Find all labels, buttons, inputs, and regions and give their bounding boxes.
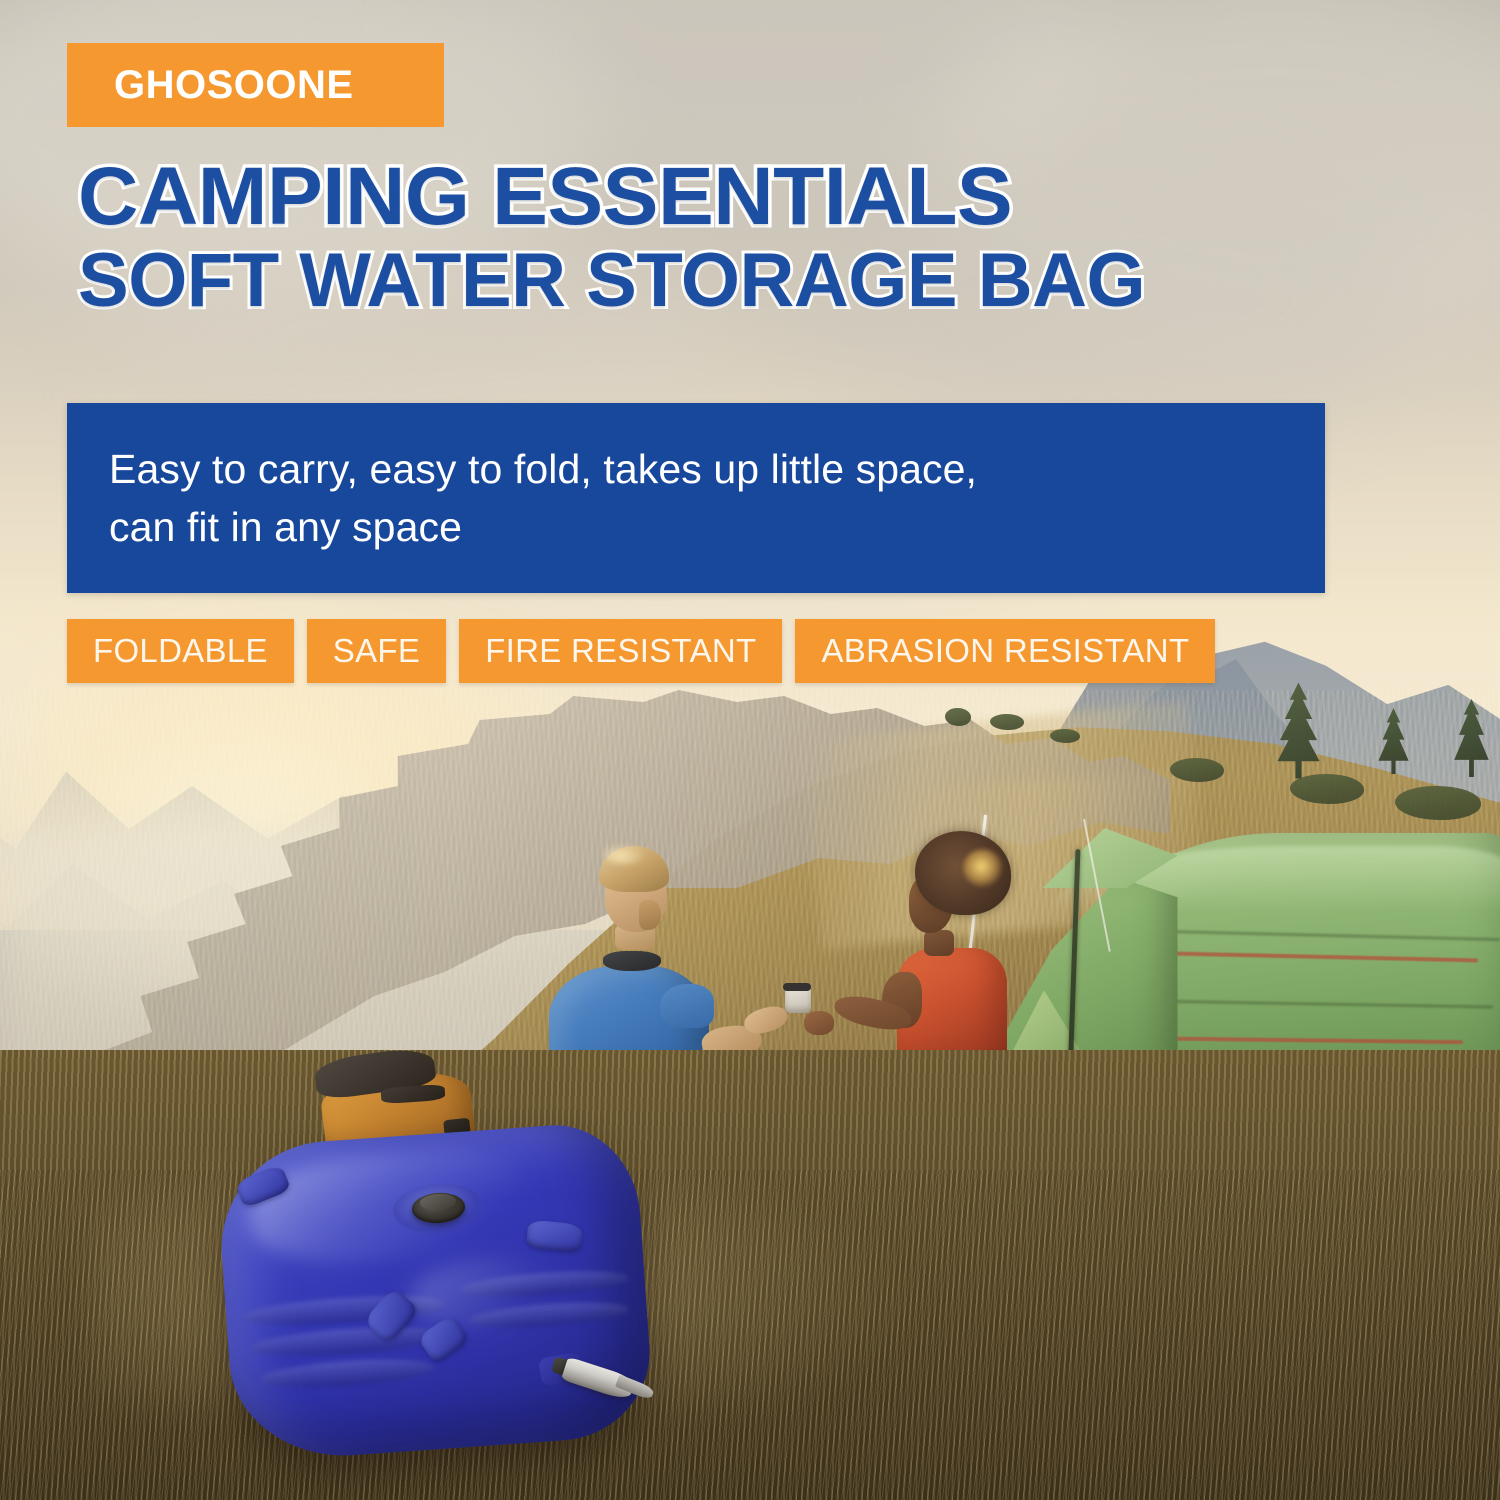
- feature-tag-safe[interactable]: SAFE: [307, 619, 446, 683]
- description-line-1: Easy to carry, easy to fold, takes up li…: [109, 440, 1283, 498]
- shrub: [1170, 758, 1224, 782]
- camper-man-shoulder: [660, 984, 714, 1028]
- feature-tag-abrasion-resistant[interactable]: ABRASION RESISTANT: [795, 619, 1215, 683]
- feature-tag-label: FIRE RESISTANT: [485, 632, 756, 670]
- shrub: [945, 708, 971, 726]
- headline-primary: CAMPING ESSENTIALS: [78, 158, 1435, 237]
- shrub: [1290, 774, 1364, 804]
- camper-woman-hair-highlight: [963, 849, 1003, 887]
- feature-tag-foldable[interactable]: FOLDABLE: [67, 619, 294, 683]
- page-title: CAMPING ESSENTIALS SOFT WATER STORAGE BA…: [78, 158, 1408, 320]
- camping-cup-lid: [783, 983, 811, 991]
- brand-name: GHOSOONE: [114, 63, 354, 108]
- description-line-2: can fit in any space: [109, 498, 1283, 556]
- feature-tag-label: ABRASION RESISTANT: [821, 632, 1189, 670]
- feature-tag-list: FOLDABLE SAFE FIRE RESISTANT ABRASION RE…: [67, 619, 1215, 683]
- brand-badge: GHOSOONE: [67, 43, 444, 127]
- shrub: [1395, 786, 1481, 820]
- feature-tag-fire-resistant[interactable]: FIRE RESISTANT: [459, 619, 782, 683]
- headline-secondary: SOFT WATER STORAGE BAG: [78, 241, 1408, 320]
- water-storage-bag: [225, 1134, 645, 1449]
- camper-woman-hand: [804, 1011, 834, 1035]
- feature-tag-label: FOLDABLE: [93, 632, 268, 670]
- camper-man-hair-highlight: [603, 843, 647, 865]
- shrub: [1050, 729, 1080, 743]
- camper-woman-neck: [924, 930, 954, 956]
- camper-man-neck-strap: [603, 951, 661, 971]
- product-marketing-poster: GHOSOONE CAMPING ESSENTIALS SOFT WATER S…: [0, 0, 1500, 1500]
- shrub: [990, 714, 1024, 730]
- description-band: Easy to carry, easy to fold, takes up li…: [67, 403, 1325, 593]
- camping-cup: [785, 987, 811, 1013]
- feature-tag-label: SAFE: [333, 632, 420, 670]
